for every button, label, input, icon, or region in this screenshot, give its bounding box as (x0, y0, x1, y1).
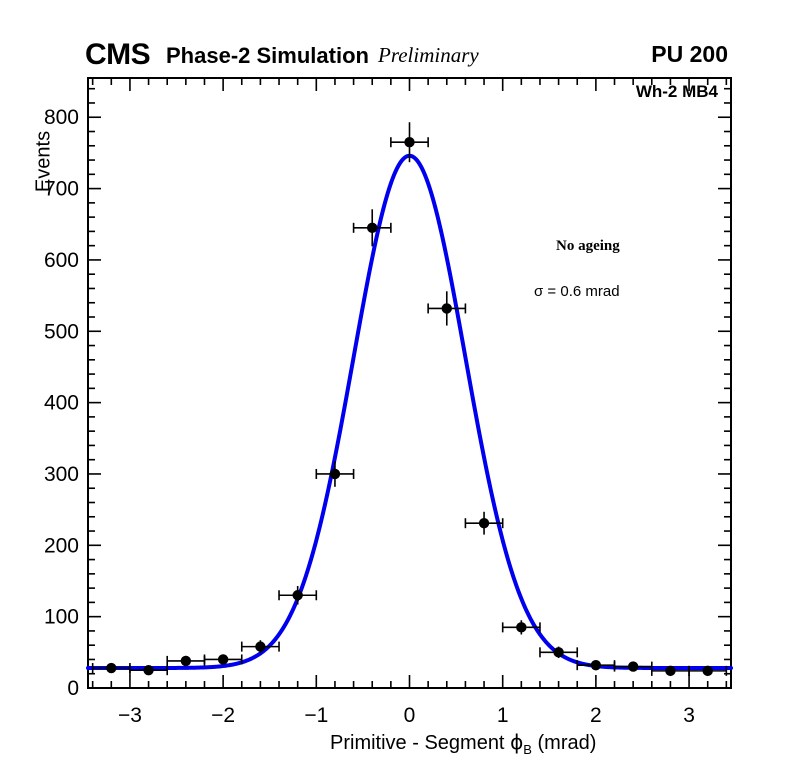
data-point (255, 641, 265, 651)
data-point (367, 223, 377, 233)
data-point (628, 661, 638, 671)
y-tick-label: 200 (44, 534, 79, 557)
data-point (143, 665, 153, 675)
data-point (404, 137, 414, 147)
y-tick-label: 100 (44, 606, 79, 629)
data-point (218, 654, 228, 664)
x-tick-label: −1 (304, 704, 328, 727)
data-point (703, 666, 713, 676)
y-tick-label: 500 (44, 320, 79, 343)
data-point (181, 656, 191, 666)
plot-canvas: −3−2−101230100200300400500600700800 (0, 0, 796, 772)
y-tick-label: 600 (44, 249, 79, 272)
fit-curve (88, 156, 731, 668)
data-point (330, 469, 340, 479)
y-tick-label: 700 (44, 178, 79, 201)
x-tick-label: 2 (590, 704, 602, 727)
data-point (665, 666, 675, 676)
x-tick-label: −2 (211, 704, 235, 727)
data-point (516, 622, 526, 632)
y-tick-label: 800 (44, 106, 79, 129)
x-tick-label: −3 (118, 704, 142, 727)
y-tick-label: 0 (67, 677, 79, 700)
data-point (292, 590, 302, 600)
data-point (442, 303, 452, 313)
plot-frame (88, 78, 731, 688)
y-tick-label: 400 (44, 392, 79, 415)
data-point (591, 660, 601, 670)
data-point (106, 663, 116, 673)
data-point (553, 647, 563, 657)
x-tick-label: 3 (683, 704, 695, 727)
x-tick-label: 1 (497, 704, 509, 727)
data-point (479, 518, 489, 528)
x-tick-label: 0 (404, 704, 416, 727)
y-tick-label: 300 (44, 463, 79, 486)
